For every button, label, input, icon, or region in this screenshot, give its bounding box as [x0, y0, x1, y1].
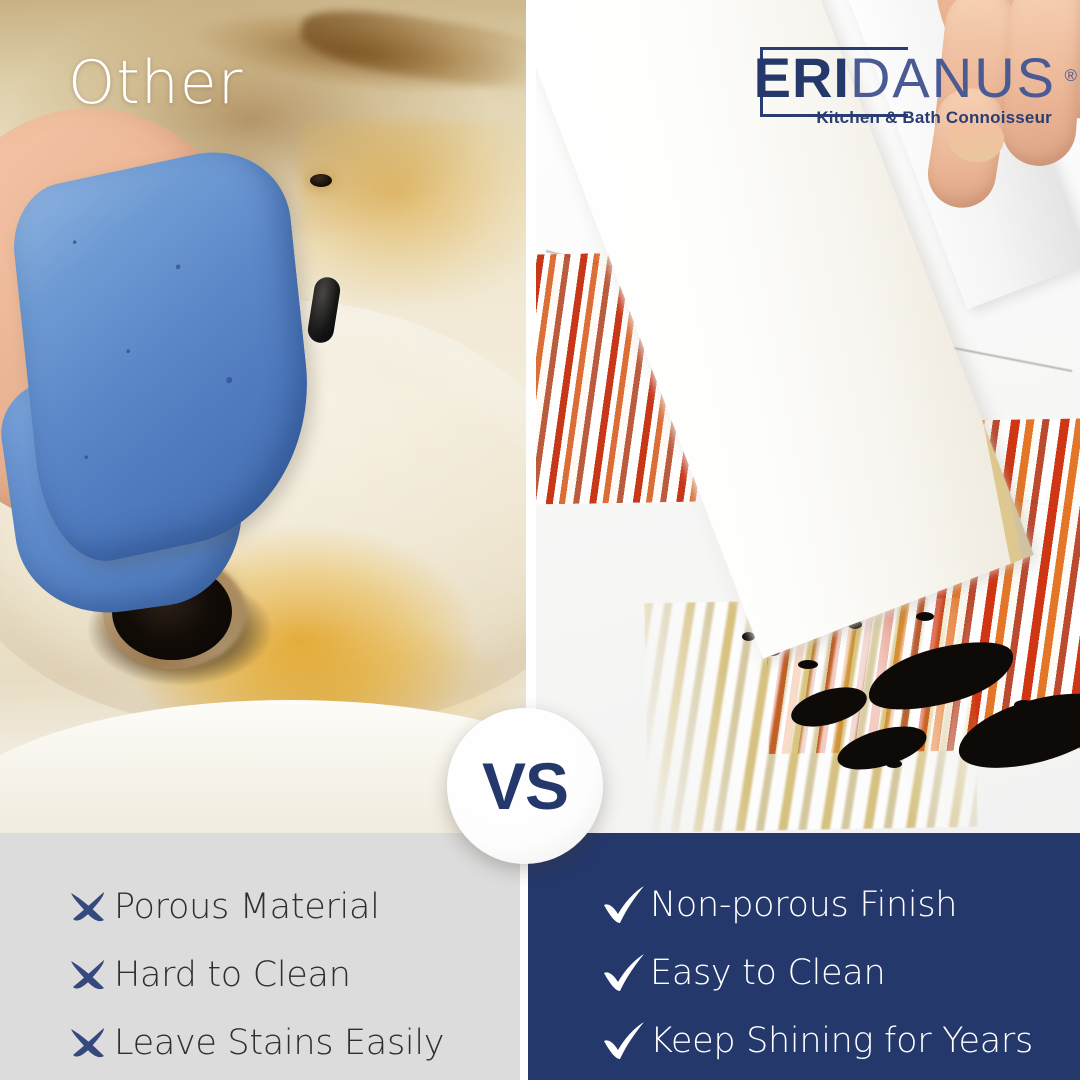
black-stain-dot — [886, 760, 902, 768]
vs-label: VS — [482, 753, 568, 819]
black-stain-dot — [916, 612, 934, 621]
sink-rust-stain-mid — [300, 120, 526, 300]
brand-logo: ERIDANUS ® Kitchen & Bath Connoisseur — [744, 44, 1056, 128]
registered-trademark-icon: ® — [1064, 42, 1076, 110]
comparison-infographic: Other ERIDANUS ® Kitchen & Bath Connoiss… — [0, 0, 1080, 1080]
x-mark-icon — [62, 955, 114, 995]
other-label: Other — [68, 48, 243, 118]
check-mark-icon — [598, 1021, 650, 1061]
list-item: Easy to Clean — [598, 945, 1048, 1001]
black-stain-dot — [1014, 700, 1034, 710]
list-item: Porous Material — [62, 879, 512, 935]
eridanus-features-list: Non-porous Finish Easy to Clean Keep Shi… — [598, 877, 1048, 1069]
other-features-list: Porous Material Hard to Clean — [62, 879, 512, 1071]
list-item-label: Non-porous Finish — [650, 885, 957, 925]
logo-danus-text: DANUS — [850, 46, 1056, 109]
x-mark-icon — [62, 887, 114, 927]
eridanus-features-panel: Non-porous Finish Easy to Clean Keep Shi… — [528, 833, 1080, 1080]
panel-divider — [520, 833, 528, 1080]
list-item-label: Leave Stains Easily — [114, 1023, 444, 1063]
list-item: Keep Shining for Years — [598, 1013, 1048, 1069]
stained-sink-with-sponge-photo — [0, 0, 526, 833]
black-stain-dot — [966, 660, 988, 670]
list-item: Hard to Clean — [62, 947, 512, 1003]
list-item-label: Porous Material — [114, 887, 380, 927]
logo-mark: ERIDANUS ® — [754, 44, 1056, 112]
logo-wordmark: ERIDANUS ® — [754, 44, 1056, 112]
sink-small-hole — [310, 174, 332, 187]
other-features-panel: Porous Material Hard to Clean — [0, 833, 520, 1080]
list-item-label: Easy to Clean — [650, 953, 885, 993]
list-item: Non-porous Finish — [598, 877, 1048, 933]
list-item: Leave Stains Easily — [62, 1015, 512, 1071]
list-item-label: Hard to Clean — [114, 955, 351, 995]
black-stain-dot — [798, 660, 818, 669]
x-mark-icon — [62, 1023, 114, 1063]
sink-basin-lip — [0, 700, 526, 833]
check-mark-icon — [598, 953, 650, 993]
list-item-label: Keep Shining for Years — [650, 1021, 1033, 1061]
check-mark-icon — [598, 885, 650, 925]
vs-badge: VS — [447, 708, 603, 864]
logo-eri-text: ERI — [754, 46, 850, 109]
